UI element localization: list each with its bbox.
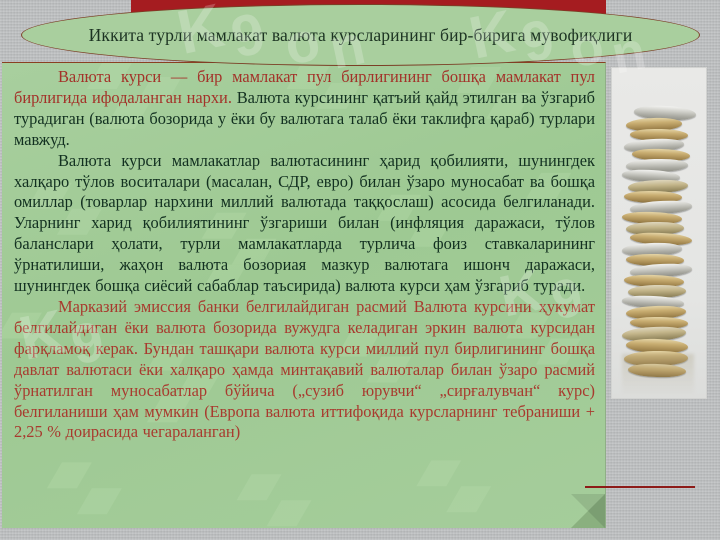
paragraph-1b: Валюта курсининг қатъий қайд этилган ва … bbox=[14, 88, 595, 149]
body-text-block: Валюта курси — бир мамлакат пул бирлигин… bbox=[2, 63, 605, 443]
title-ellipse: Иккита турли мамлакат валюта курсларинин… bbox=[21, 4, 700, 66]
paragraph-3: Марказий эмиссия банки белгилайдиган рас… bbox=[14, 297, 595, 443]
coin-reflection bbox=[622, 354, 694, 396]
page-title: Иккита турли мамлакат валюта курсларинин… bbox=[81, 25, 641, 45]
paragraph-1a: Валюта курси — бир мамлакат пул бирлигин… bbox=[14, 67, 595, 151]
page-fold-shadow bbox=[571, 494, 605, 528]
content-panel: Валюта курси — бир мамлакат пул бирлигин… bbox=[2, 62, 606, 528]
paragraph-2: Валюта курси мамлакатлар валютасининг ҳа… bbox=[14, 151, 595, 297]
stack-of-coins-photo bbox=[611, 67, 707, 399]
decorative-red-rule bbox=[585, 486, 695, 488]
slide-canvas: Иккита турли мамлакат валюта курсларинин… bbox=[0, 0, 720, 540]
